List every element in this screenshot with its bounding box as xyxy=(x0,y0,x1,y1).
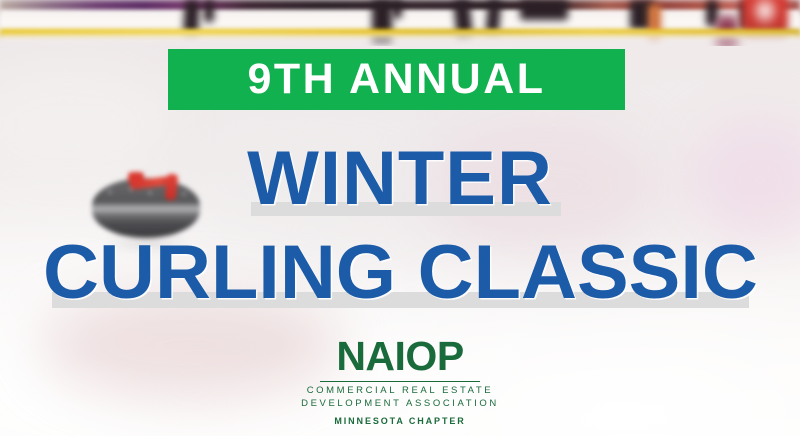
naiop-tagline-line-2: DEVELOPMENT ASSOCIATION xyxy=(301,398,499,411)
headline-text-winter: WINTER xyxy=(247,141,553,217)
naiop-tagline-line-1: COMMERCIAL REAL ESTATE xyxy=(301,385,499,398)
naiop-tagline: COMMERCIAL REAL ESTATE DEVELOPMENT ASSOC… xyxy=(301,385,499,411)
event-poster: 9TH ANNUAL WINTER CURLING CLASSIC NAIOP … xyxy=(0,0,800,436)
naiop-logo-divider xyxy=(320,381,480,382)
annual-banner-label: 9TH ANNUAL xyxy=(247,58,545,101)
naiop-chapter-label: MINNESOTA CHAPTER xyxy=(334,416,465,426)
headline-line-1: WINTER xyxy=(0,140,800,218)
naiop-logo: NAIOP COMMERCIAL REAL ESTATE DEVELOPMENT… xyxy=(0,336,800,426)
headline-text-curling-classic: CURLING CLASSIC xyxy=(43,235,758,311)
annual-banner: 9TH ANNUAL xyxy=(168,49,625,110)
naiop-wordmark: NAIOP xyxy=(336,336,463,377)
poster-content: 9TH ANNUAL WINTER CURLING CLASSIC NAIOP … xyxy=(0,0,800,436)
headline-line-2: CURLING CLASSIC xyxy=(0,232,800,314)
